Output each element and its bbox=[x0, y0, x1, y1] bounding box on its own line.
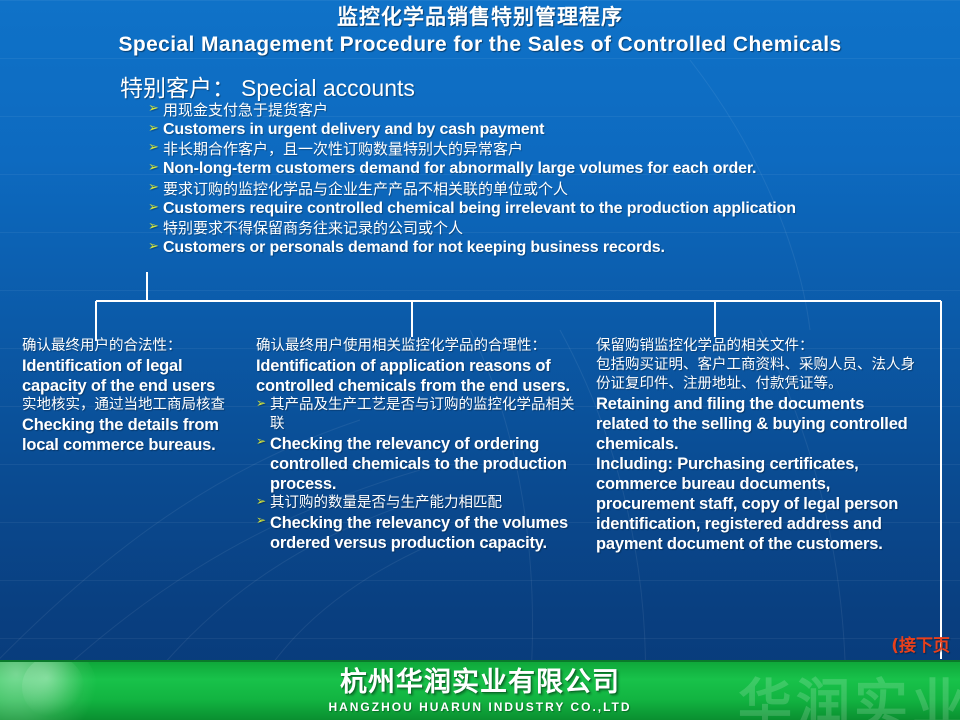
bullet-text: Customers or personals demand for not ke… bbox=[163, 239, 665, 256]
column-text: Identification of legal capacity of the … bbox=[22, 357, 215, 395]
bullet-arrow-icon: ➢ bbox=[148, 238, 159, 255]
column-text: 确认最终用户的合法性： bbox=[22, 338, 182, 354]
column-text: 包括购买证明、客户工商资料、采购人员、法人身份证复印件、注册地址、付款凭证等。 bbox=[596, 357, 915, 392]
section-heading-en: Special accounts bbox=[241, 75, 415, 101]
page-title: 监控化学品销售特别管理程序 Special Management Procedu… bbox=[0, 4, 960, 59]
bullet-text: Non-long-term customers demand for abnor… bbox=[163, 160, 756, 177]
special-accounts-bullet-list: ➢用现金支付急于提货客户➢Customers in urgent deliver… bbox=[148, 101, 960, 258]
column-sub-bullet: ➢Checking the relevancy of ordering cont… bbox=[256, 434, 586, 494]
bullet-item: ➢Customers in urgent delivery and by cas… bbox=[148, 120, 960, 140]
bullet-arrow-icon: ➢ bbox=[148, 180, 159, 197]
column-paragraph: 确认最终用户的合法性： bbox=[22, 337, 237, 356]
bullet-text: 特别要求不得保留商务往来记录的公司或个人 bbox=[163, 219, 463, 237]
bullet-item: ➢要求订购的监控化学品与企业生产产品不相关联的单位或个人 bbox=[148, 180, 960, 199]
column-text: Checking the details from local commerce… bbox=[22, 416, 219, 454]
column-text: Including: Purchasing certificates, comm… bbox=[596, 455, 898, 554]
bullet-item: ➢Customers or personals demand for not k… bbox=[148, 238, 960, 258]
column-text: 保留购销监控化学品的相关文件： bbox=[596, 338, 814, 354]
bullet-arrow-icon: ➢ bbox=[256, 513, 266, 528]
bullet-arrow-icon: ➢ bbox=[148, 120, 159, 137]
column-paragraph: 确认最终用户使用相关监控化学品的合理性： bbox=[256, 337, 586, 356]
bullet-arrow-icon: ➢ bbox=[256, 434, 266, 449]
column-text: Identification of application reasons of… bbox=[256, 357, 570, 395]
bullet-text: 非长期合作客户，且一次性订购数量特别大的异常客户 bbox=[163, 140, 523, 158]
bullet-arrow-icon: ➢ bbox=[256, 396, 266, 412]
page-title-en: Special Management Procedure for the Sal… bbox=[0, 31, 960, 58]
bullet-item: ➢非长期合作客户，且一次性订购数量特别大的异常客户 bbox=[148, 140, 960, 159]
bullet-arrow-icon: ➢ bbox=[148, 159, 159, 176]
column-text: 确认最终用户使用相关监控化学品的合理性： bbox=[256, 338, 546, 354]
continued-next-page-note: (接下页 bbox=[891, 631, 950, 656]
column-paragraph: 包括购买证明、客户工商资料、采购人员、法人身份证复印件、注册地址、付款凭证等。 bbox=[596, 356, 916, 394]
bullet-item: ➢Customers require controlled chemical b… bbox=[148, 199, 960, 219]
company-logo-band: 华润实业 杭州华润实业有限公司 HANGZHOU HUARUN INDUSTRY… bbox=[0, 660, 960, 720]
bullet-item: ➢用现金支付急于提货客户 bbox=[148, 101, 960, 120]
column-text: Checking the relevancy of ordering contr… bbox=[270, 435, 567, 493]
column-text: 其订购的数量是否与生产能力相匹配 bbox=[270, 495, 502, 511]
column-document-retention: 保留购销监控化学品的相关文件：包括购买证明、客户工商资料、采购人员、法人身份证复… bbox=[596, 337, 916, 555]
page-title-cn: 监控化学品销售特别管理程序 bbox=[0, 4, 960, 30]
logo-text-group: 杭州华润实业有限公司 HANGZHOU HUARUN INDUSTRY CO.,… bbox=[0, 662, 960, 720]
slide-canvas: 监控化学品销售特别管理程序 Special Management Procedu… bbox=[0, 0, 960, 720]
bullet-arrow-icon: ➢ bbox=[148, 199, 159, 216]
column-sub-bullet: ➢其产品及生产工艺是否与订购的监控化学品相关联 bbox=[256, 396, 586, 434]
bullet-item: ➢特别要求不得保留商务往来记录的公司或个人 bbox=[148, 219, 960, 238]
bullet-arrow-icon: ➢ bbox=[148, 219, 159, 236]
bullet-text: Customers require controlled chemical be… bbox=[163, 200, 796, 217]
column-paragraph: 保留购销监控化学品的相关文件： bbox=[596, 337, 916, 356]
column-paragraph: 实地核实，通过当地工商局核查 bbox=[22, 396, 237, 415]
column-sub-bullet: ➢Checking the relevancy of the volumes o… bbox=[256, 513, 586, 553]
bullet-arrow-icon: ➢ bbox=[256, 494, 266, 510]
bullet-arrow-icon: ➢ bbox=[148, 140, 159, 157]
column-sub-bullet: ➢其订购的数量是否与生产能力相匹配 bbox=[256, 494, 586, 513]
column-paragraph: Identification of legal capacity of the … bbox=[22, 356, 237, 396]
company-name-en: HANGZHOU HUARUN INDUSTRY CO.,LTD bbox=[328, 701, 631, 713]
column-paragraph: Retaining and filing the documents relat… bbox=[596, 394, 916, 454]
section-heading: 特别客户：Special accounts bbox=[120, 69, 415, 103]
bullet-text: 用现金支付急于提货客户 bbox=[163, 101, 328, 119]
bullet-arrow-icon: ➢ bbox=[148, 101, 159, 118]
section-heading-cn: 特别客户： bbox=[120, 76, 235, 102]
bullet-text: Customers in urgent delivery and by cash… bbox=[163, 121, 544, 138]
column-paragraph: Checking the details from local commerce… bbox=[22, 415, 237, 455]
company-name-cn: 杭州华润实业有限公司 bbox=[340, 669, 620, 696]
column-paragraph: Identification of application reasons of… bbox=[256, 356, 586, 396]
column-paragraph: Including: Purchasing certificates, comm… bbox=[596, 454, 916, 555]
column-text: 其产品及生产工艺是否与订购的监控化学品相关联 bbox=[270, 397, 575, 432]
bullet-item: ➢Non-long-term customers demand for abno… bbox=[148, 159, 960, 179]
column-application-reasons: 确认最终用户使用相关监控化学品的合理性：Identification of ap… bbox=[256, 337, 586, 553]
bullet-text: 要求订购的监控化学品与企业生产产品不相关联的单位或个人 bbox=[163, 180, 568, 198]
column-legal-capacity: 确认最终用户的合法性：Identification of legal capac… bbox=[22, 337, 237, 455]
column-text: 实地核实，通过当地工商局核查 bbox=[22, 397, 225, 413]
column-text: Checking the relevancy of the volumes or… bbox=[270, 514, 568, 552]
column-text: Retaining and filing the documents relat… bbox=[596, 395, 908, 453]
